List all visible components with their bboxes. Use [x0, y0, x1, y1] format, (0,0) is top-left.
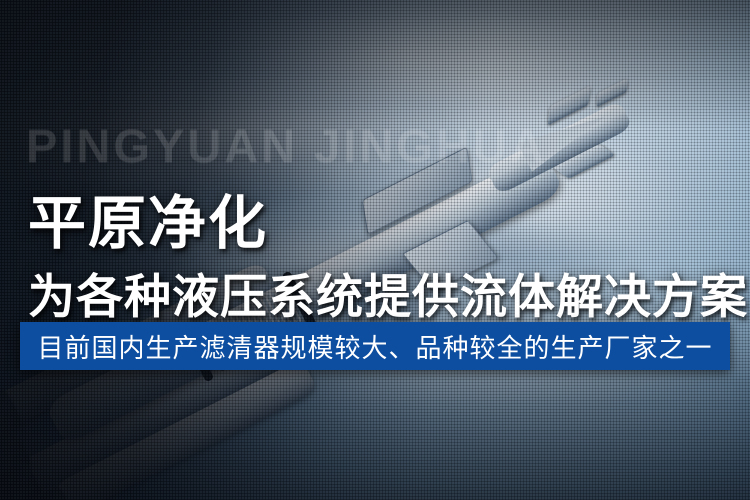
highlight-bar: 目前国内生产滤清器规模较大、品种较全的生产厂家之一	[20, 322, 730, 370]
banner-title: 平原净化	[28, 176, 268, 260]
banner-content: PINGYUAN JINGHUA 平原净化 为各种液压系统提供流体解决方案 目前…	[0, 0, 750, 500]
promotional-banner: PINGYUAN JINGHUA 平原净化 为各种液压系统提供流体解决方案 目前…	[0, 0, 750, 500]
highlight-bar-text: 目前国内生产滤清器规模较大、品种较全的生产厂家之一	[37, 328, 712, 365]
banner-subtitle: 为各种液压系统提供流体解决方案	[28, 258, 748, 327]
watermark-text: PINGYUAN JINGHUA	[26, 118, 547, 173]
